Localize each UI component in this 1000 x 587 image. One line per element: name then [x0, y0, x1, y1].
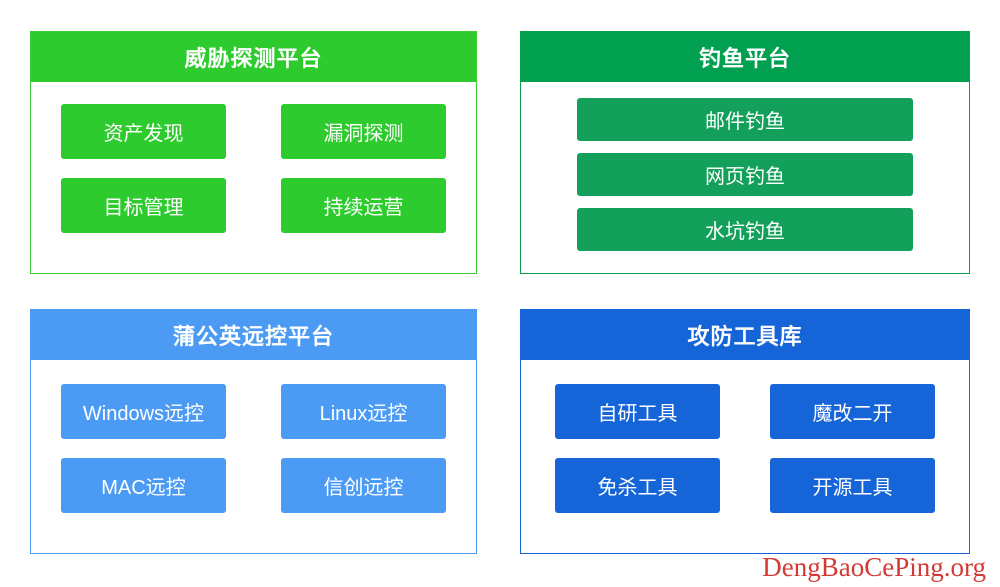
item-target-management[interactable]: 目标管理 [61, 178, 226, 233]
item-watering-hole-phishing[interactable]: 水坑钓鱼 [577, 208, 913, 251]
item-continuous-operation[interactable]: 持续运营 [281, 178, 446, 233]
panel-title-threat-detection-platform: 威胁探测平台 [31, 32, 476, 82]
panel-items-phishing-platform: 邮件钓鱼 网页钓鱼 水坑钓鱼 [521, 82, 969, 274]
panel-attack-defense-toolbox: 攻防工具库 自研工具 魔改二开 免杀工具 开源工具 [520, 309, 970, 554]
item-open-source-tools[interactable]: 开源工具 [770, 458, 935, 513]
item-linux-remote-control[interactable]: Linux远控 [281, 384, 446, 439]
panel-title-attack-defense-toolbox: 攻防工具库 [521, 310, 969, 360]
architecture-diagram: 威胁探测平台 资产发现 漏洞探测 目标管理 持续运营 钓鱼平台 邮件钓鱼 网页钓… [0, 0, 1000, 587]
watermark: DengBaoCePing.org [762, 552, 986, 583]
panel-threat-detection-platform: 威胁探测平台 资产发现 漏洞探测 目标管理 持续运营 [30, 31, 477, 274]
item-mac-remote-control[interactable]: MAC远控 [61, 458, 226, 513]
panel-items-remote-control-platform: Windows远控 Linux远控 MAC远控 信创远控 [31, 360, 476, 554]
item-modified-tools[interactable]: 魔改二开 [770, 384, 935, 439]
panel-phishing-platform: 钓鱼平台 邮件钓鱼 网页钓鱼 水坑钓鱼 [520, 31, 970, 274]
item-av-evasion-tools[interactable]: 免杀工具 [555, 458, 720, 513]
item-web-phishing[interactable]: 网页钓鱼 [577, 153, 913, 196]
item-self-developed-tools[interactable]: 自研工具 [555, 384, 720, 439]
item-windows-remote-control[interactable]: Windows远控 [61, 384, 226, 439]
item-email-phishing[interactable]: 邮件钓鱼 [577, 98, 913, 141]
panel-title-phishing-platform: 钓鱼平台 [521, 32, 969, 82]
panel-remote-control-platform: 蒲公英远控平台 Windows远控 Linux远控 MAC远控 信创远控 [30, 309, 477, 554]
panel-items-threat-detection-platform: 资产发现 漏洞探测 目标管理 持续运营 [31, 82, 476, 274]
item-asset-discovery[interactable]: 资产发现 [61, 104, 226, 159]
panel-title-remote-control-platform: 蒲公英远控平台 [31, 310, 476, 360]
item-xinchuang-remote-control[interactable]: 信创远控 [281, 458, 446, 513]
panel-items-attack-defense-toolbox: 自研工具 魔改二开 免杀工具 开源工具 [521, 360, 969, 554]
item-vulnerability-detection[interactable]: 漏洞探测 [281, 104, 446, 159]
